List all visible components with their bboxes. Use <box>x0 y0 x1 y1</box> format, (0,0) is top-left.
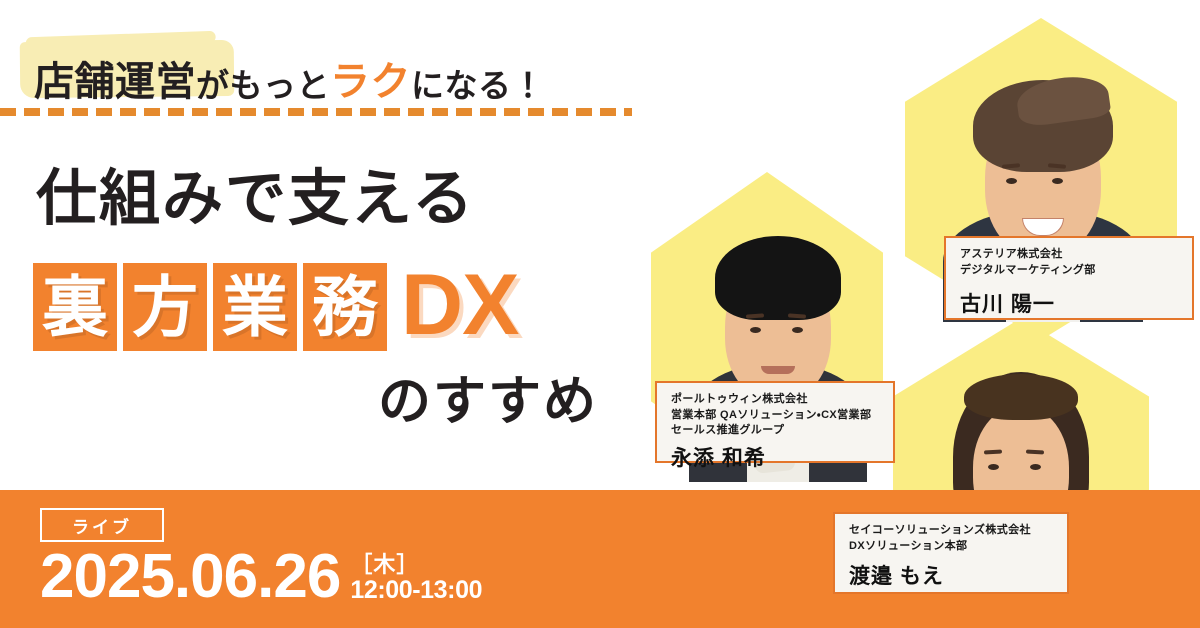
dashed-divider <box>0 108 632 116</box>
headline-boxed-char-4: 務 <box>303 263 387 351</box>
speaker-org-line: 営業本部 QAソリューション・CX営業部 <box>671 408 881 424</box>
speaker-card-watanabe: セイコーソリューションズ株式会社 DXソリューション本部 渡邉 もえ <box>833 512 1069 594</box>
headline-line-1: 仕組みで支える <box>36 168 475 229</box>
schedule-date-row: 2025.06.26 ［木］ 12:00-13:00 <box>40 548 482 605</box>
speaker-card-nagasoe: ポールトゥウィン株式会社 営業本部 QAソリューション・CX営業部 セールス推進… <box>655 381 895 463</box>
headline-boxed-row: 裏 方 業 務 DX <box>33 263 518 351</box>
headline-line-3: のすすめ <box>378 375 598 428</box>
headline-dx-text: DX <box>401 263 518 347</box>
event-time: 12:00-13:00 <box>350 576 482 604</box>
speaker-name: 古川 陽一 <box>960 294 1180 315</box>
tagline-middle-text: がもっと <box>196 69 330 102</box>
event-day-of-week: ［木］ <box>350 552 419 577</box>
tagline: 店舗運営 がもっと ラク になる！ <box>34 40 545 102</box>
headline-boxed-char-3: 業 <box>213 263 297 351</box>
tagline-accent-text: ラク <box>330 62 411 102</box>
webinar-banner: 店舗運営 がもっと ラク になる！ 仕組みで支える 裏 方 業 務 DX のすす… <box>0 0 1200 628</box>
speaker-org-line: DXソリューション本部 <box>849 539 1055 555</box>
speaker-org-line: セールス推進グループ <box>671 423 881 439</box>
speaker-card-furukawa: アステリア株式会社 デジタルマーケティング部 古川 陽一 <box>944 236 1194 320</box>
speaker-org-line: ポールトゥウィン株式会社 <box>671 392 881 408</box>
speaker-name: 渡邉 もえ <box>849 566 1055 587</box>
headline-boxed-char-1: 裏 <box>33 263 117 351</box>
speaker-org-line: アステリア株式会社 <box>960 247 1180 263</box>
speaker-org-line: セイコーソリューションズ株式会社 <box>849 523 1055 539</box>
tagline-highlighted-text: 店舗運営 <box>34 62 196 102</box>
event-date-detail: ［木］ 12:00-13:00 <box>350 553 482 605</box>
headline-boxed-char-2: 方 <box>123 263 207 351</box>
speaker-name: 永添 和希 <box>671 448 881 469</box>
live-badge: ライブ <box>40 508 164 542</box>
speaker-org-line: デジタルマーケティング部 <box>960 263 1180 279</box>
event-date: 2025.06.26 <box>40 548 340 605</box>
tagline-tail-text: になる！ <box>411 69 545 102</box>
